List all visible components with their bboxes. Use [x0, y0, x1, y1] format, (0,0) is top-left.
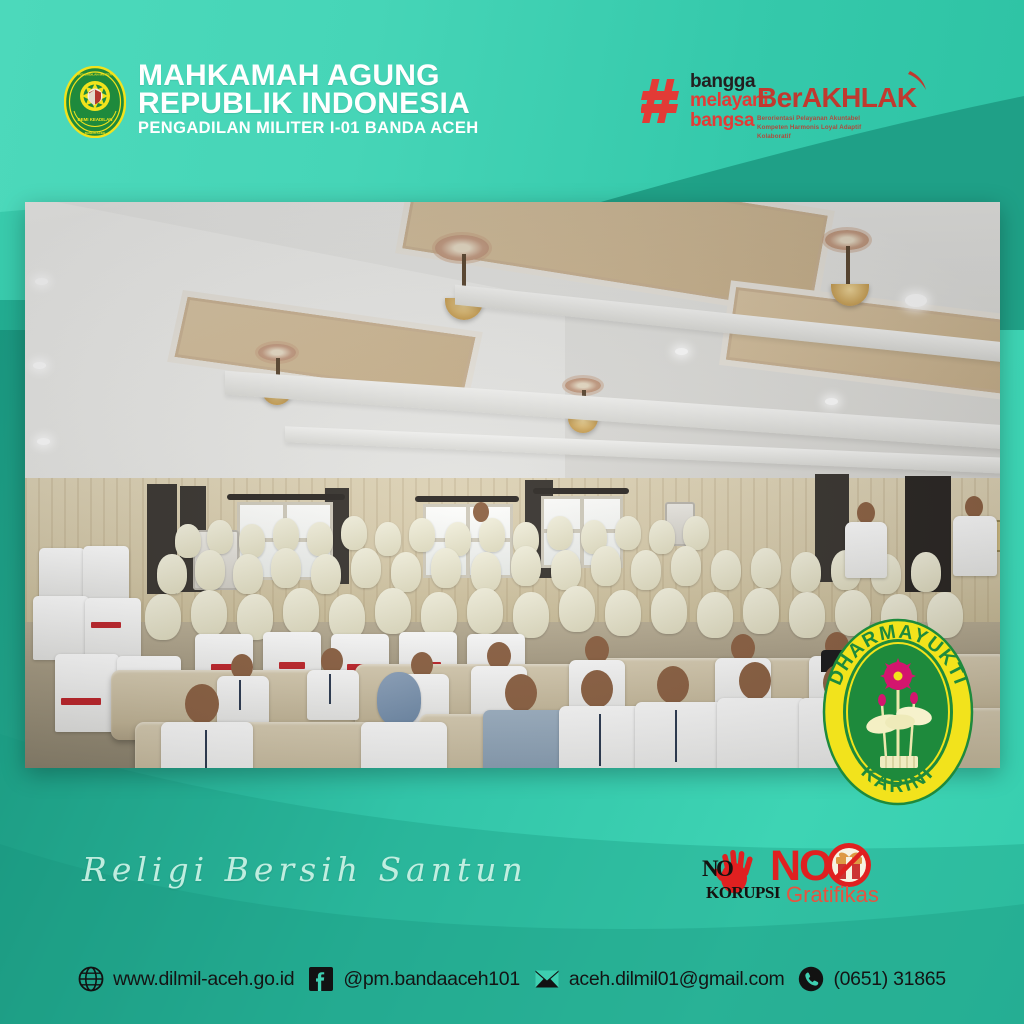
standing-attendee [965, 496, 983, 518]
ceiling-downlight [675, 348, 688, 355]
pendant-lamp-rod [846, 246, 850, 288]
website-label: www.dilmil-aceh.go.id [113, 968, 294, 991]
covered-chair [55, 654, 119, 732]
svg-text:PENGADILAN MILITER: PENGADILAN MILITER [78, 73, 112, 77]
swoosh-icon [907, 70, 929, 94]
attendee-hijab [377, 672, 421, 726]
envelope-icon [534, 966, 560, 992]
phone-icon [798, 966, 824, 992]
attendee-body [635, 702, 723, 768]
footer-item-phone[interactable]: (0651) 31865 [798, 966, 945, 992]
mahkamah-agung-branding: DEMI KEADILAN PENGADILAN MILITER BANDA A… [64, 62, 479, 138]
footer-item-facebook[interactable]: @pm.bandaaceh101 [308, 966, 520, 992]
facebook-icon [308, 966, 334, 992]
chair-sash [279, 662, 305, 669]
standing-attendee [953, 516, 997, 576]
hash-icon [641, 77, 681, 125]
attendee-head [505, 674, 537, 712]
footer-item-email[interactable]: aceh.dilmil01@gmail.com [534, 966, 785, 992]
svg-text:O: O [716, 856, 733, 881]
officer-uniform [483, 710, 569, 768]
attendee-head [185, 684, 219, 724]
berakhlak-subtitle: Berorientasi Pelayanan Akuntabel Kompete… [757, 115, 885, 142]
attendee-body [717, 698, 807, 768]
svg-text:BANDA ACEH: BANDA ACEH [85, 131, 106, 135]
standing-attendee [473, 502, 489, 522]
institution-line-2: REPUBLIK INDONESIA [138, 90, 479, 118]
dharmayukti-karini-logo: DHARMAYUKTI KARINI [822, 618, 974, 806]
attendee-head [657, 666, 689, 704]
covered-chair [33, 596, 89, 660]
curtain-rod [415, 496, 519, 502]
chair-sash [61, 698, 101, 705]
berakhlak-title-text: BerAKHLAK [757, 82, 917, 113]
poster-header: DEMI KEADILAN PENGADILAN MILITER BANDA A… [0, 0, 1024, 175]
email-label: aceh.dilmil01@gmail.com [569, 968, 785, 991]
footer-item-website[interactable]: www.dilmil-aceh.go.id [78, 966, 294, 992]
ceiling-downlight [37, 438, 50, 445]
mahkamah-agung-seal-icon: DEMI KEADILAN PENGADILAN MILITER BANDA A… [64, 66, 126, 138]
no-gratifikasi-badge: NO Gratifikasi [770, 838, 880, 906]
chair-sash [91, 622, 121, 628]
standing-attendee [845, 522, 887, 578]
ceiling-dome-light [905, 294, 927, 307]
no-gratifikasi-word-text: Gratifikasi [786, 882, 880, 906]
phone-label: (0651) 31865 [833, 968, 945, 991]
no-gift-prohibition-icon [827, 843, 871, 887]
covered-chair [83, 546, 129, 600]
ceiling-downlight [35, 278, 48, 285]
attendee-body [361, 722, 447, 768]
attendee-body [161, 722, 253, 768]
poster-footer: www.dilmil-aceh.go.id @pm.bandaaceh101 a… [0, 934, 1024, 1024]
bangga-melayani-bangsa-logo: bangga melayani bangsa [641, 72, 768, 130]
attendee-head [581, 670, 613, 708]
svg-text:DEMI KEADILAN: DEMI KEADILAN [78, 117, 113, 122]
attendee-lanyard [675, 710, 677, 762]
facebook-label: @pm.bandaaceh101 [343, 968, 520, 991]
attendee-lanyard [205, 730, 207, 768]
institution-title: MAHKAMAH AGUNG REPUBLIK INDONESIA PENGAD… [138, 62, 479, 137]
curtain-rod [227, 494, 345, 500]
standing-attendee [857, 502, 875, 524]
berakhlak-logo: BerAKHLAK Berorientasi Pelayanan Akuntab… [757, 82, 917, 142]
ceiling-downlight [825, 398, 838, 405]
ceiling-downlight [33, 362, 46, 369]
berakhlak-title: BerAKHLAK [757, 82, 917, 114]
curtain-rod [533, 488, 629, 494]
institution-line-1: MAHKAMAH AGUNG [138, 62, 479, 90]
attendee-head [739, 662, 771, 700]
attendee-lanyard [599, 714, 601, 766]
tagline: Religi Bersih Santun [82, 850, 528, 889]
attendee-body [559, 706, 647, 768]
institution-line-3: PENGADILAN MILITER I-01 BANDA ACEH [138, 121, 479, 137]
globe-icon [78, 966, 104, 992]
anti-corruption-badges: N O KORUPSI NO Gratifikasi [700, 838, 880, 908]
covered-chair [39, 548, 85, 600]
